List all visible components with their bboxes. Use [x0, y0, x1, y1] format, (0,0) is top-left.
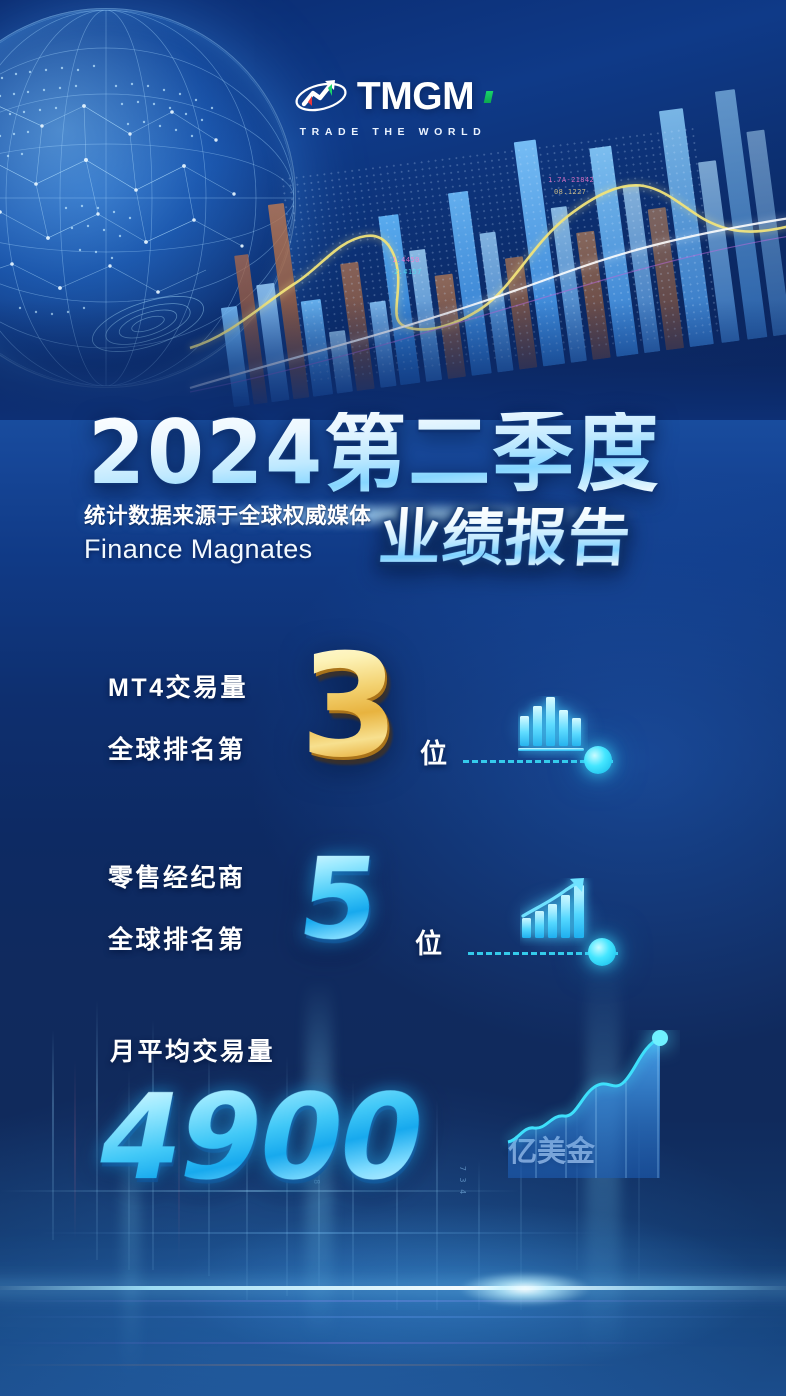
- stat-row-mt4-volume: MT4交易量 全球排名第 3 位: [0, 630, 786, 800]
- hero-tick-1: 1.4450: [392, 256, 420, 264]
- horizon-light-beam: [0, 1286, 786, 1290]
- stat2-rank-value: 5: [293, 844, 385, 956]
- stat3-value: 4900: [89, 1078, 432, 1196]
- brand-logo[interactable]: TMGM TRADE THE WORLD: [0, 74, 786, 138]
- stat1-rank-value: 3: [300, 636, 399, 778]
- stat1-endpoint-dot: [584, 746, 612, 774]
- stat-row-monthly-volume: 月平均交易量 4900 亿美金: [0, 1020, 786, 1200]
- stat1-unit: 位: [420, 732, 447, 771]
- chart-arrow-globe-icon: [294, 74, 348, 119]
- hero-banner: 1.4450 2.4157 1.7A-21842 08.1227: [0, 0, 786, 420]
- stat1-label-line2: 全球排名第: [108, 730, 246, 766]
- stat2-endpoint-dot: [588, 938, 616, 966]
- brand-name: TMGM: [357, 77, 474, 116]
- growth-arrow-chart-icon: [520, 878, 594, 951]
- stat-row-retail-broker: 零售经纪商 全球排名第 5 位: [0, 840, 786, 990]
- beam-core-flare: [460, 1272, 590, 1306]
- title-year-quarter: 2024第二季度: [88, 412, 660, 496]
- stat1-label-line1: MT4交易量: [108, 668, 248, 704]
- hero-tick-4: 08.1227: [554, 188, 586, 196]
- title-source: 统计数据来源于全球权威媒体 Finance Magnates: [84, 499, 371, 569]
- promo-poster: 1.4450 2.4157 1.7A-21842 08.1227 TMGM TR…: [0, 0, 786, 1396]
- title-source-en: Finance Magnates: [84, 534, 371, 565]
- brand-tagline: TRADE THE WORLD: [0, 126, 786, 138]
- stat3-label: 月平均交易量: [110, 1032, 275, 1068]
- hero-tick-3: 1.7A-21842: [548, 176, 594, 184]
- title-report: 业绩报告: [377, 507, 633, 569]
- stat2-label-line2: 全球排名第: [108, 920, 246, 956]
- title-source-cn: 统计数据来源于全球权威媒体: [84, 499, 371, 530]
- title-block: 2024第二季度 统计数据来源于全球权威媒体 Finance Magnates …: [0, 415, 786, 569]
- stat2-label-line1: 零售经纪商: [108, 858, 246, 894]
- stat2-unit: 位: [415, 922, 442, 961]
- area-trend-chart-icon: [500, 1030, 680, 1185]
- brand-accent-mark: [484, 91, 494, 103]
- hero-tick-2: 2.4157: [394, 268, 422, 276]
- bar-chart-icon: [518, 696, 588, 763]
